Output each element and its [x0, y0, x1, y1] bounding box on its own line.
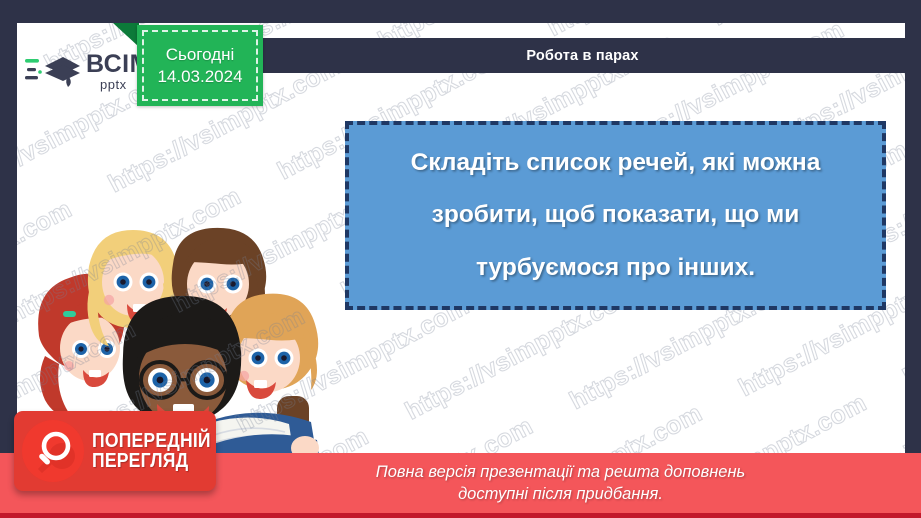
today-badge-tail [113, 23, 139, 47]
today-badge-label: Сьогодні [166, 45, 235, 65]
banner-line-1: Повна версія презентації та решта доповн… [376, 463, 745, 481]
today-badge-date: 14.03.2024 [157, 67, 242, 87]
preview-badge-line-2: ПЕРЕГЛЯД [92, 451, 211, 471]
preview-badge-line-1: ПОПЕРЕДНІЙ [92, 431, 211, 451]
task-line-2: зробити, щоб показати, що ми [426, 203, 806, 228]
task-instruction-box: Складіть список речей, які можна зробити… [345, 121, 886, 310]
slide-header-bar: Робота в парах [255, 38, 905, 73]
task-line-3: турбуємося про інших. [470, 256, 761, 281]
slide-frame: https://vsimpptx.comhttps://vsimpptx.com… [0, 0, 921, 518]
graduation-cap-icon [25, 51, 81, 91]
page-title: Робота в парах [526, 48, 638, 64]
task-line-1: Складіть список речей, які можна [405, 151, 827, 176]
today-badge: Сьогодні 14.03.2024 [137, 25, 263, 106]
brand-logo: ВСІМ pptx [25, 51, 151, 91]
banner-line-2: доступні після придбання. [458, 485, 663, 503]
preview-badge[interactable]: ПОПЕРЕДНІЙ ПЕРЕГЛЯД [14, 411, 216, 491]
magnifier-icon [22, 420, 84, 482]
